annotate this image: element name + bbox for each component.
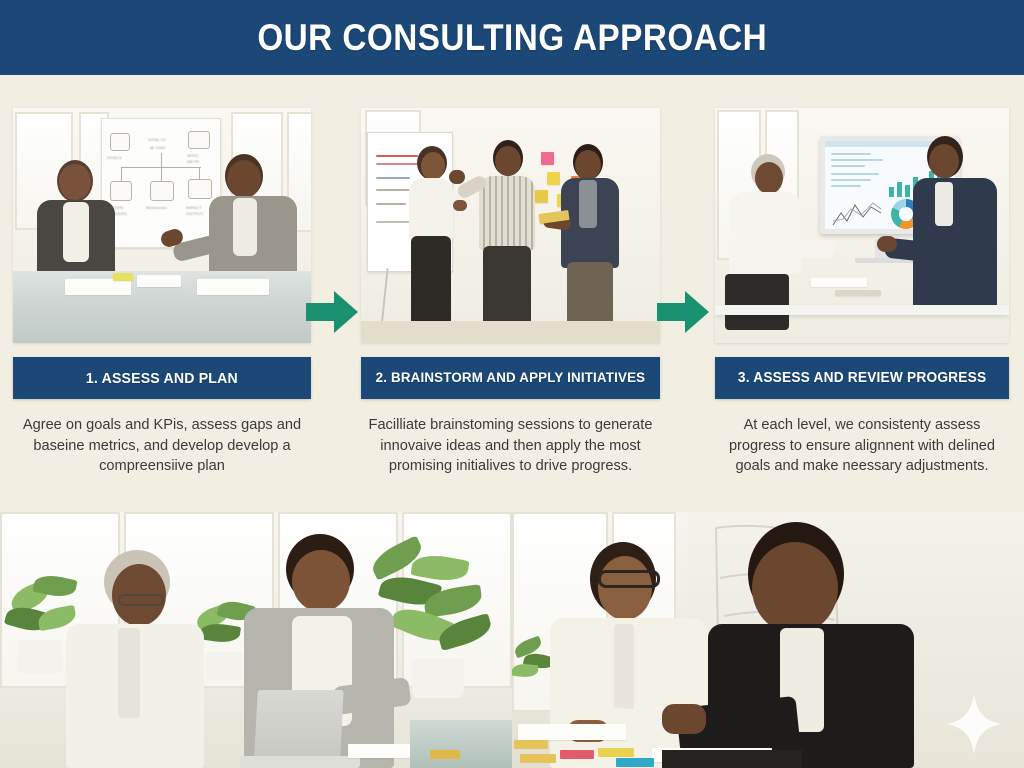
eyeglasses-icon	[118, 594, 164, 606]
sticky-note	[535, 190, 548, 203]
step-2-photo	[361, 108, 660, 343]
sticky-note	[547, 172, 560, 185]
step-3-description: At each level, we consistenty assess pro…	[715, 415, 1009, 477]
bottom-photo-left	[0, 512, 512, 768]
bottom-photo-right	[512, 512, 1024, 768]
step-card-1: GOAL 01 @ 4180 GOALS APPC METR ACTION LE…	[13, 75, 311, 477]
dashboard-line-chart	[831, 199, 883, 229]
step-2-label: 2. BRAINSTORM AND APPLY INITIATIVES	[376, 370, 646, 386]
sticky-note	[541, 152, 554, 165]
step-2-description: Facilliate brainstoming sessions to gene…	[361, 415, 660, 477]
arrow-step-2-to-3	[657, 289, 709, 335]
arrow-step-1-to-2	[306, 289, 358, 335]
steps-section: GOAL 01 @ 4180 GOALS APPC METR ACTION LE…	[0, 75, 1024, 512]
step-3-label: 3. ASSESS AND REVIEW PROGRESS	[738, 370, 986, 386]
page-title: OUR CONSULTING APPROACH	[257, 17, 767, 59]
bottom-photo-strip	[0, 512, 1024, 768]
step-1-label-bar: 1. ASSESS AND PLAN	[13, 357, 311, 399]
step-card-2: 2. BRAINSTORM AND APPLY INITIATIVES Faci…	[361, 75, 660, 477]
step-card-3: 3. ASSESS AND REVIEW PROGRESS At each le…	[715, 75, 1009, 477]
sparkle-watermark-icon	[946, 694, 1002, 754]
eyeglasses-icon	[598, 570, 660, 588]
step-3-label-bar: 3. ASSESS AND REVIEW PROGRESS	[715, 357, 1009, 399]
step-1-photo: GOAL 01 @ 4180 GOALS APPC METR ACTION LE…	[13, 108, 311, 343]
step-1-label: 1. ASSESS AND PLAN	[86, 370, 238, 387]
step-1-description: Agree on goals and KPis, assess gaps and…	[13, 415, 311, 477]
step-2-label-bar: 2. BRAINSTORM AND APPLY INITIATIVES	[361, 357, 660, 399]
whiteboard-diagram: GOAL 01 @ 4180 GOALS APPC METR ACTION LE…	[101, 118, 221, 248]
page-header: OUR CONSULTING APPROACH	[0, 0, 1024, 75]
step-3-photo	[715, 108, 1009, 343]
